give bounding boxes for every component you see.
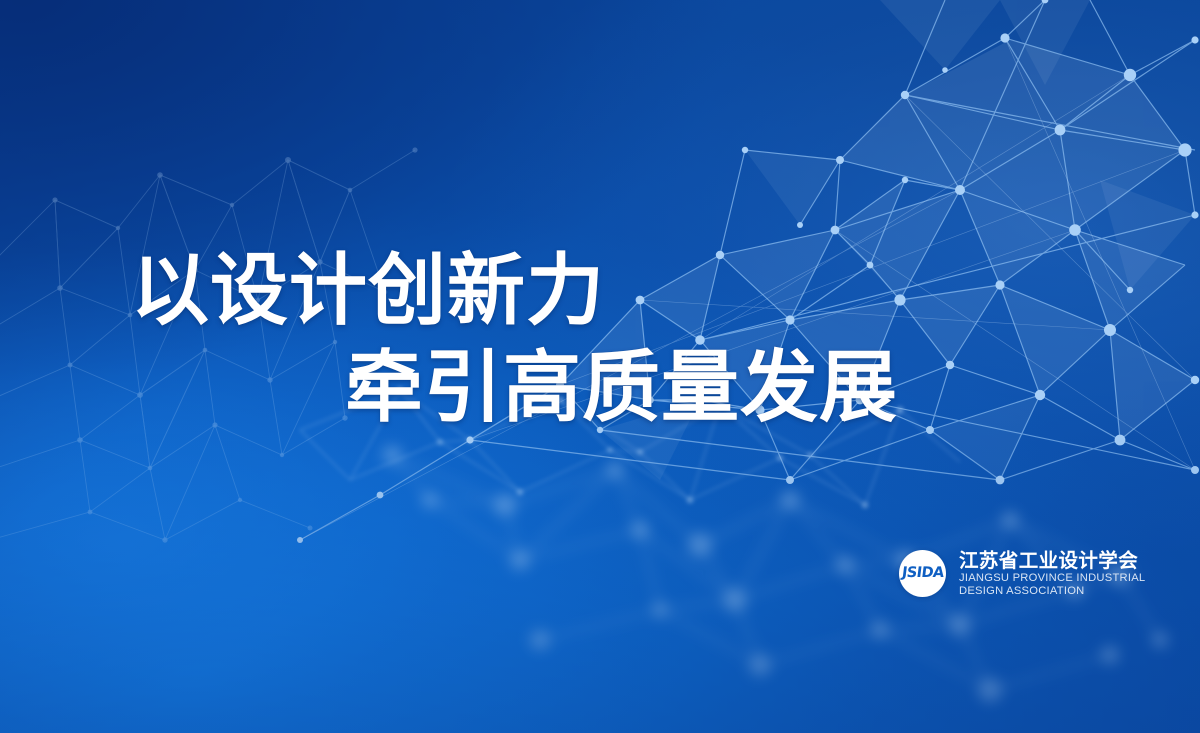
jsida-logo-lockup: JSIDA 江苏省工业设计学会 JIANGSU PROVINCE INDUSTR…	[899, 549, 1145, 597]
headline-line-1: 以设计创新力	[0, 243, 1200, 340]
banner-slide: 以设计创新力 牵引高质量发展 JSIDA 江苏省工业设计学会 JIANGSU P…	[0, 0, 1200, 733]
jsida-logo-circle-icon: JSIDA	[899, 550, 946, 597]
headline-block: 以设计创新力 牵引高质量发展	[0, 243, 1200, 437]
logo-text-group: 江苏省工业设计学会 JIANGSU PROVINCE INDUSTRIAL DE…	[959, 549, 1145, 597]
organization-name-english-line-1: JIANGSU PROVINCE INDUSTRIAL	[959, 572, 1145, 585]
organization-name-chinese: 江苏省工业设计学会	[959, 550, 1145, 572]
organization-name-english-line-2: DESIGN ASSOCIATION	[959, 585, 1145, 598]
headline-line-2: 牵引高质量发展	[0, 340, 1200, 437]
jsida-logo-monogram: JSIDA	[901, 565, 944, 581]
